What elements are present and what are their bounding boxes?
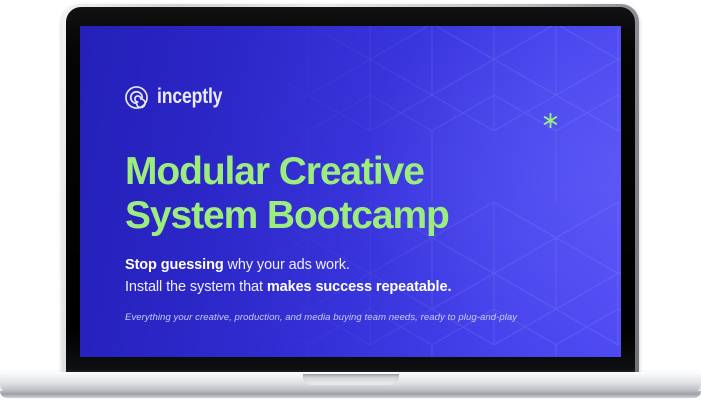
laptop-screen: inceptly Modular Creative System Bootcam… — [80, 26, 621, 357]
subheading-bold-1: Stop guessing — [125, 257, 224, 273]
page-title: Modular Creative System Bootcamp — [125, 150, 449, 238]
spiral-icon — [125, 86, 148, 109]
subheading-line-2: Install the system that makes success re… — [125, 276, 451, 298]
subheading-rest-2: Install the system that — [125, 279, 267, 295]
sparkle-asterisk-icon — [542, 112, 559, 129]
screenshot-stage: inceptly Modular Creative System Bootcam… — [0, 0, 701, 405]
laptop-base-foot — [0, 391, 701, 398]
brand-lockup: inceptly — [125, 85, 235, 109]
brand-name: inceptly — [157, 85, 222, 109]
headline-line-1: Modular Creative — [125, 150, 449, 194]
slide-content: inceptly Modular Creative System Bootcam… — [125, 26, 601, 357]
subheading-rest-1: why your ads work. — [224, 257, 350, 273]
subheading-bold-2: makes success repeatable. — [267, 279, 452, 295]
subheading-line-1: Stop guessing why your ads work. — [125, 254, 451, 276]
tagline: Everything your creative, production, an… — [125, 312, 517, 323]
subheading: Stop guessing why your ads work. Install… — [125, 254, 451, 298]
headline-line-2: System Bootcamp — [125, 194, 449, 238]
trackpad-notch — [303, 374, 399, 385]
